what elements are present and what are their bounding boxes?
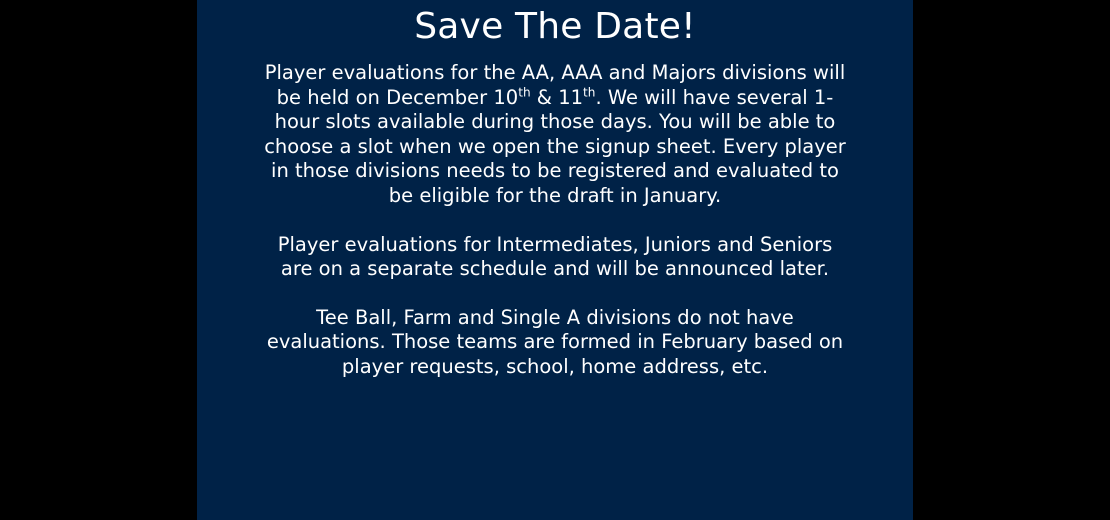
paragraph-evaluations-intermediates-juniors-seniors: Player evaluations for Intermediates, Ju…	[260, 233, 850, 282]
paragraph-evaluations-aa-aaa-majors: Player evaluations for the AA, AAA and M…	[260, 61, 850, 209]
page-title: Save The Date!	[197, 0, 913, 49]
paragraph-no-evaluations-teeball-farm-singlea: Tee Ball, Farm and Single A divisions do…	[260, 306, 850, 380]
ordinal-suffix: th	[583, 85, 595, 99]
announcement-content-panel: Save The Date! Player evaluations for th…	[197, 0, 913, 520]
ordinal-suffix: th	[518, 85, 530, 99]
announcement-body: Player evaluations for the AA, AAA and M…	[260, 49, 850, 380]
announcement-page: Save The Date! Player evaluations for th…	[0, 0, 1110, 520]
